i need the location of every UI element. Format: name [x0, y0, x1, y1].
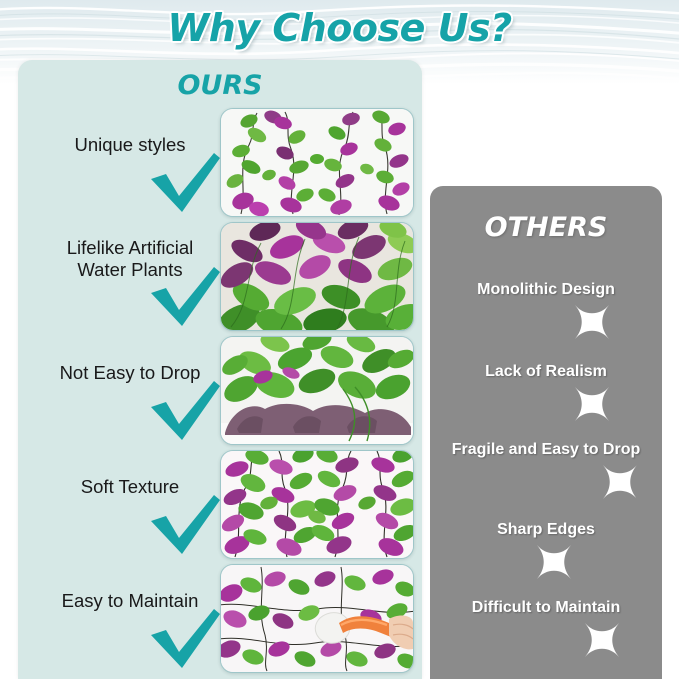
others-item-label: Fragile and Easy to Drop	[430, 440, 662, 459]
others-panel: OTHERS Monolithic Design Lack of Realism…	[430, 186, 662, 679]
ours-item-image	[220, 108, 414, 217]
ours-item-image	[220, 450, 414, 559]
check-icon	[146, 380, 224, 442]
ours-row: Lifelike Artificial Water Plants	[18, 222, 422, 336]
others-row: Lack of Realism	[430, 362, 662, 440]
cross-icon	[572, 302, 612, 342]
ours-row: Unique styles	[18, 108, 422, 222]
cross-icon	[572, 384, 612, 424]
page-title: Why Choose Us?	[0, 6, 679, 50]
others-item-label: Monolithic Design	[430, 280, 662, 299]
ours-row: Not Easy to Drop	[18, 336, 422, 450]
cross-icon	[582, 620, 622, 660]
others-row: Sharp Edges	[430, 520, 662, 598]
ours-item-image	[220, 222, 414, 331]
others-row: Monolithic Design	[430, 280, 662, 358]
others-heading: OTHERS	[430, 212, 662, 243]
ours-item-label-line1: Lifelike Artificial	[32, 237, 228, 259]
ours-heading: OURS	[18, 70, 422, 101]
ours-item-image	[220, 336, 414, 445]
check-icon	[146, 152, 224, 214]
ours-row: Easy to Maintain	[18, 564, 422, 678]
ours-item-image	[220, 564, 414, 673]
check-icon	[146, 608, 224, 670]
check-icon	[146, 494, 224, 556]
cross-icon	[534, 542, 574, 582]
others-item-label: Sharp Edges	[430, 520, 662, 539]
ours-row: Soft Texture	[18, 450, 422, 564]
check-icon	[146, 266, 224, 328]
others-row: Difficult to Maintain	[430, 598, 662, 676]
others-item-label: Lack of Realism	[430, 362, 662, 381]
cross-icon	[600, 462, 640, 502]
others-item-label: Difficult to Maintain	[430, 598, 662, 617]
ours-panel: OURS Unique styles	[18, 60, 422, 679]
others-row: Fragile and Easy to Drop	[430, 440, 662, 518]
